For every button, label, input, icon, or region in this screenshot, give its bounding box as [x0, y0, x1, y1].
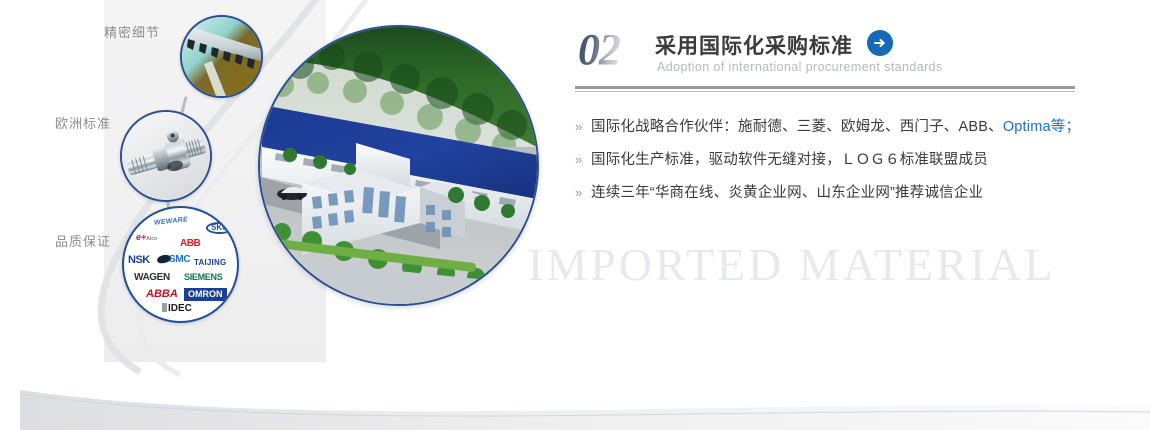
- page-title: 采用国际化采购标准: [655, 30, 853, 60]
- brand-logo-eplus: e+Alco: [136, 233, 157, 242]
- arrow-right-icon[interactable]: [867, 30, 893, 56]
- brand-logo-wall: WEWARE SKO e+Alco ABB NSK SMC TAIJING WA…: [124, 208, 237, 321]
- right-content: 02 采用国际化采购标准 Adoption of international p…: [575, 22, 1095, 84]
- factory-aerial-image: [260, 27, 537, 304]
- brand-logo-omron: OMRON: [184, 288, 227, 301]
- feature-bullet-list: » 国际化战略合作伙伴：施耐德、三菱、欧姆龙、西门子、ABB、Optima等； …: [575, 117, 1095, 216]
- brand-logo-taijing: TAIJING: [194, 259, 226, 267]
- bullet-text: 国际化战略合作伙伴：施耐德、三菱、欧姆龙、西门子、ABB、Optima等；: [591, 117, 1080, 137]
- brand-logo-abb: ABB: [180, 239, 200, 249]
- section-number: 02: [578, 28, 620, 72]
- arrow-right-glyph: [873, 36, 887, 50]
- brand-logo-smc: SMC: [169, 255, 190, 265]
- list-item: » 国际化战略合作伙伴：施耐德、三菱、欧姆龙、西门子、ABB、Optima等；: [575, 117, 1095, 137]
- label-quality-assurance: 品质保证: [55, 231, 111, 250]
- list-item: » 连续三年“华商在线、炎黄企业网、山东企业网”推荐诚信企业: [575, 183, 1095, 203]
- thumb-gear-detail[interactable]: [180, 15, 263, 98]
- brand-logo-wagen: WAGEN: [134, 273, 170, 283]
- section-header: 02 采用国际化采购标准 Adoption of international p…: [575, 22, 1095, 84]
- bullet-text: 连续三年“华商在线、炎黄企业网、山东企业网”推荐诚信企业: [591, 183, 983, 203]
- page-subtitle: Adoption of international procurement st…: [657, 60, 943, 74]
- brand-logo-abba: ABBA: [146, 289, 178, 300]
- list-item: » 国际化生产标准，驱动软件无缝对接，ＬＯＧ６标准联盟成员: [575, 150, 1095, 170]
- bullet-marker-icon: »: [575, 183, 591, 203]
- bullet-accent-text: Optima等；: [1003, 119, 1080, 135]
- bullet-marker-icon: »: [575, 150, 591, 170]
- header-divider: [575, 86, 1075, 92]
- label-european-standard: 欧洲标准: [55, 113, 111, 132]
- label-precision-detail: 精密细节: [104, 22, 160, 41]
- bullet-marker-icon: »: [575, 117, 591, 137]
- thumb-brand-logos[interactable]: WEWARE SKO e+Alco ABB NSK SMC TAIJING WA…: [122, 206, 239, 323]
- watermark-text: IMPORTED MATERIAL: [528, 238, 1055, 291]
- brand-logo-siemens: SIEMENS: [184, 273, 222, 282]
- bullet-text: 国际化生产标准，驱动软件无缝对接，ＬＯＧ６标准联盟成员: [591, 150, 988, 170]
- brand-logo-sko: SKO: [206, 222, 233, 234]
- thumb-ballscrew-detail[interactable]: [120, 110, 212, 202]
- brand-logo-weware: WEWARE: [154, 216, 189, 227]
- gear-macro-image: [182, 17, 261, 96]
- factory-photo-circle[interactable]: [258, 25, 539, 306]
- brand-logo-nsk: NSK: [128, 255, 150, 266]
- brand-logo-idec: IDEC: [162, 303, 192, 314]
- ballscrew-shape: [122, 112, 210, 200]
